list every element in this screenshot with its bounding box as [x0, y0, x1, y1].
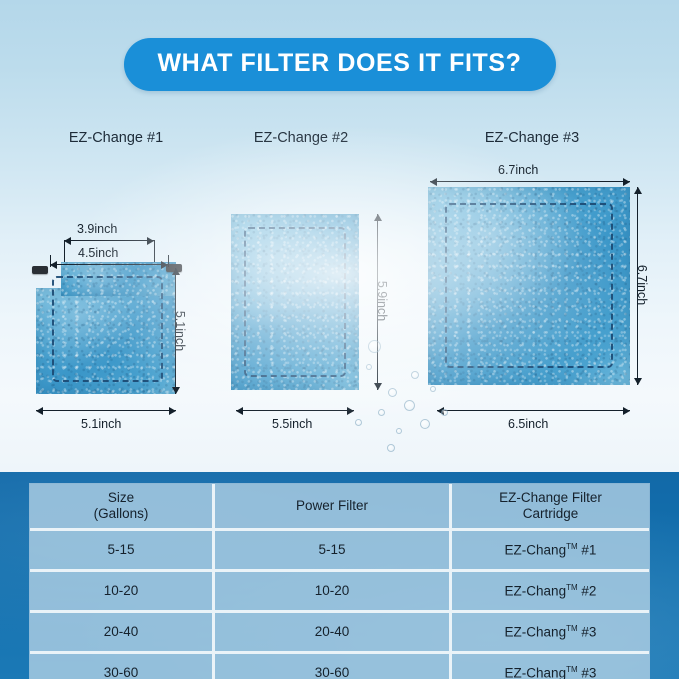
cartridge-name: EZ-Chang	[505, 624, 567, 639]
trademark-symbol: TM	[566, 665, 578, 674]
dim-line-f1-width	[36, 410, 176, 411]
filter-cartridge-2	[231, 214, 359, 390]
trademark-symbol: TM	[566, 624, 578, 633]
bubble-icon	[411, 371, 419, 379]
page-title: WHAT FILTER DOES IT FITS?	[123, 38, 555, 91]
header-line-1: Size	[30, 490, 212, 506]
dim-label-f3-width: 6.5inch	[508, 417, 548, 431]
table-row: 10-20 10-20 EZ-ChangTM #2	[30, 572, 649, 613]
dim-line-f3-width	[437, 410, 630, 411]
compatibility-table: Size (Gallons) Power Filter EZ-Change Fi…	[30, 484, 649, 679]
dim-label-f1-height: 5.1inch	[173, 311, 187, 351]
header-line-1: Power Filter	[215, 498, 449, 514]
bubble-icon	[420, 419, 430, 429]
bubble-icon	[404, 400, 415, 411]
illustration-area: WHAT FILTER DOES IT FITS? EZ-Change #1 E…	[0, 0, 679, 472]
cell-power-filter: 5-15	[215, 531, 452, 572]
table-row: 20-40 20-40 EZ-ChangTM #3	[30, 613, 649, 654]
cell-power-filter: 20-40	[215, 613, 452, 654]
dim-line-f1-top-inner	[64, 240, 154, 241]
cartridge-name: EZ-Chang	[505, 542, 567, 557]
column-header-cartridge: EZ-Change Filter Cartridge	[452, 484, 649, 531]
cell-cartridge: EZ-ChangTM #1	[452, 531, 649, 572]
product-caption-2: EZ-Change #2	[254, 130, 348, 146]
cell-size: 10-20	[30, 572, 215, 613]
bubble-icon	[441, 409, 448, 416]
column-header-size: Size (Gallons)	[30, 484, 215, 531]
dim-label-f1-width: 5.1inch	[81, 417, 121, 431]
stitch-border	[445, 203, 613, 368]
header-line-2: Cartridge	[452, 506, 649, 522]
bubble-icon	[388, 388, 397, 397]
trademark-symbol: TM	[566, 542, 578, 551]
cell-power-filter: 30-60	[215, 654, 452, 679]
bubble-icon	[396, 428, 402, 434]
bubble-icon	[355, 419, 362, 426]
filter-cartridge-3	[428, 187, 630, 385]
bubble-icon	[430, 386, 436, 392]
cell-power-filter: 10-20	[215, 572, 452, 613]
filter-cartridge-1	[36, 262, 176, 394]
dim-label-f3-top: 6.7inch	[498, 163, 538, 177]
cell-cartridge: EZ-ChangTM #2	[452, 572, 649, 613]
cell-size: 5-15	[30, 531, 215, 572]
dim-line-f3-top	[430, 181, 630, 182]
product-caption-1: EZ-Change #1	[69, 130, 163, 146]
cell-size: 30-60	[30, 654, 215, 679]
trademark-symbol: TM	[566, 583, 578, 592]
dim-tick	[154, 240, 155, 262]
cell-size: 20-40	[30, 613, 215, 654]
product-caption-3: EZ-Change #3	[485, 130, 579, 146]
bubble-icon	[366, 364, 372, 370]
stitch-border	[52, 276, 163, 382]
table-row: 5-15 5-15 EZ-ChangTM #1	[30, 531, 649, 572]
cartridge-number: #3	[581, 624, 596, 639]
dim-label-f1-top-inner: 3.9inch	[77, 222, 117, 236]
bubble-icon	[387, 444, 395, 452]
cartridge-number: #2	[581, 583, 596, 598]
cell-cartridge: EZ-ChangTM #3	[452, 654, 649, 679]
bubble-icon	[378, 409, 385, 416]
header-line-1: EZ-Change Filter	[452, 490, 649, 506]
dim-label-f2-height: 5.9inch	[375, 281, 389, 321]
column-header-power-filter: Power Filter	[215, 484, 452, 531]
dim-tick	[64, 240, 65, 262]
dim-line-f1-top-outer	[50, 264, 168, 265]
dim-tick	[50, 255, 51, 267]
cell-cartridge: EZ-ChangTM #3	[452, 613, 649, 654]
header-line-2: (Gallons)	[30, 506, 212, 522]
table-row: 30-60 30-60 EZ-ChangTM #3	[30, 654, 649, 679]
cartridge-number: #3	[581, 665, 596, 679]
cartridge-number: #1	[581, 542, 596, 557]
dim-label-f1-top-outer: 4.5inch	[78, 246, 118, 260]
stitch-border	[244, 227, 346, 377]
table-header-row: Size (Gallons) Power Filter EZ-Change Fi…	[30, 484, 649, 531]
cartridge-name: EZ-Chang	[505, 665, 567, 679]
dim-tick	[168, 255, 169, 267]
bubble-icon	[368, 340, 381, 353]
cartridge-name: EZ-Chang	[505, 583, 567, 598]
dim-line-f2-width	[236, 410, 354, 411]
dim-label-f3-height: 6.7inch	[635, 265, 649, 305]
compatibility-panel: Size (Gallons) Power Filter EZ-Change Fi…	[0, 472, 679, 679]
dim-label-f2-width: 5.5inch	[272, 417, 312, 431]
clip-tab-left-icon	[32, 266, 48, 274]
infographic-page: WHAT FILTER DOES IT FITS? EZ-Change #1 E…	[0, 0, 679, 679]
